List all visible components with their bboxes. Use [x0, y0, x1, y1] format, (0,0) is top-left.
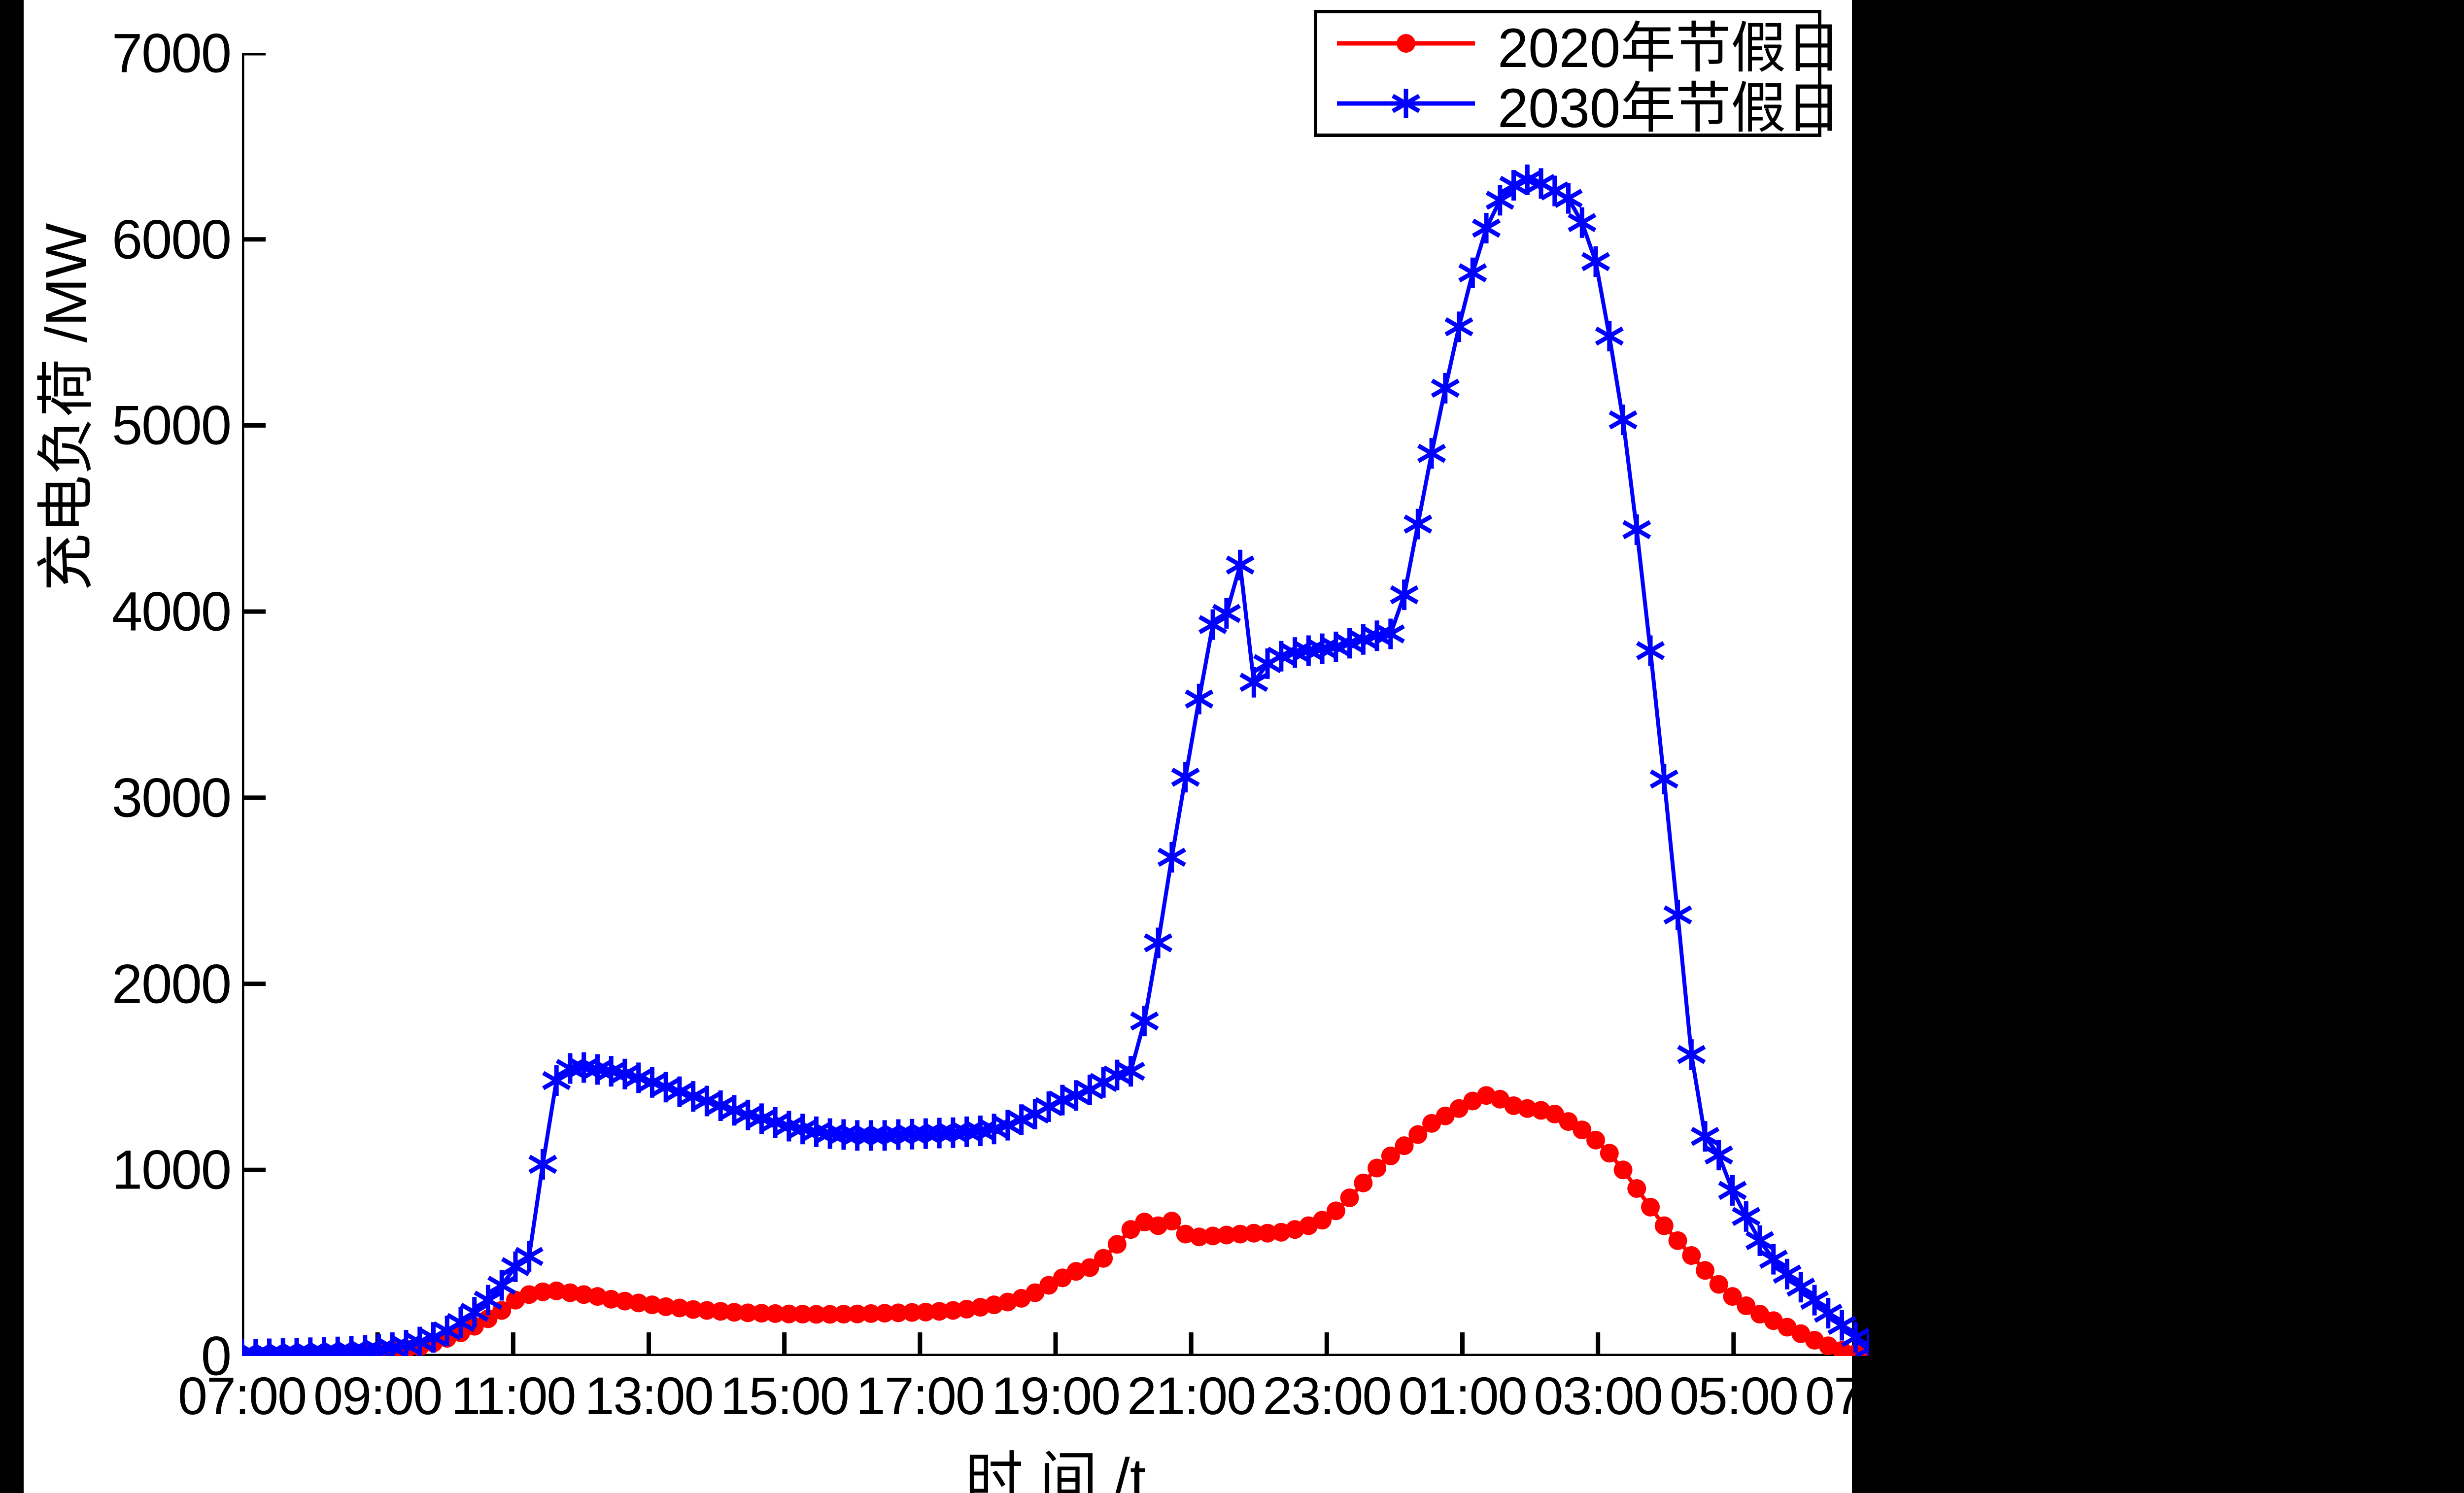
x-axis-title: 时 间 /t: [242, 1431, 1869, 1493]
data-point-marker: [1586, 1131, 1605, 1150]
y-axis-title: 充电负荷 /MW: [19, 0, 103, 591]
data-point-marker: [1600, 1144, 1619, 1162]
legend-item-2[interactable]: 2030年节假日: [1317, 73, 1818, 134]
x-axis-tick-label: 21:00: [1127, 1365, 1255, 1426]
data-point-marker: [1655, 1217, 1674, 1235]
x-axis-tick-label: 03:00: [1534, 1365, 1662, 1426]
data-point-marker: [1354, 1174, 1372, 1192]
figure-canvas: 70006000500040003000200010000 充电负荷 /MW 0…: [24, 0, 1852, 1493]
x-axis-tick-label: 15:00: [720, 1365, 849, 1426]
data-point-marker: [1641, 1198, 1660, 1217]
legend-item-label: 2030年节假日: [1480, 64, 1841, 143]
chart-legend: 2020年节假日2030年节假日: [1314, 10, 1821, 137]
data-point-marker: [1163, 1212, 1181, 1230]
x-axis-tick-label: 11:00: [451, 1365, 575, 1426]
data-point-marker: [1397, 34, 1415, 53]
x-axis-tick-label: 01:00: [1398, 1365, 1526, 1426]
x-axis-tick-label: 09:00: [313, 1365, 442, 1426]
data-point-marker: [1094, 1249, 1113, 1268]
x-axis-tick-label: 07:00: [1805, 1365, 1933, 1426]
x-axis-tick-label: 07:00: [178, 1365, 306, 1426]
x-axis-tick-label: 17:00: [856, 1365, 984, 1426]
y-axis-tick-label: 4000: [112, 580, 231, 644]
data-point-marker: [1340, 1188, 1359, 1207]
plot-area: [242, 53, 1869, 1356]
legend-circle-marker-icon: [1332, 29, 1480, 58]
y-axis-tick-label: 7000: [112, 22, 231, 85]
x-axis-tick-label: 19:00: [992, 1365, 1120, 1426]
data-point-marker: [1696, 1261, 1714, 1280]
y-axis-tick-label: 3000: [112, 766, 231, 829]
data-point-marker: [1682, 1246, 1701, 1265]
series-1: [242, 1086, 1869, 1356]
y-axis-tick-label: 1000: [112, 1138, 231, 1202]
y-axis-tick-label: 2000: [112, 952, 231, 1016]
figure-page: 70006000500040003000200010000 充电负荷 /MW 0…: [0, 0, 2464, 1493]
y-axis-tick-label: 6000: [112, 207, 231, 271]
data-point-marker: [1627, 1179, 1646, 1198]
data-point-marker: [1327, 1201, 1345, 1220]
x-axis-tick-label: 23:00: [1263, 1365, 1391, 1426]
chart-svg: [242, 53, 1869, 1356]
y-axis-tick-label: 5000: [112, 394, 231, 457]
data-point-marker: [1108, 1235, 1127, 1254]
legend-asterisk-marker-icon: [1332, 89, 1480, 118]
data-point-marker: [1669, 1231, 1687, 1250]
x-axis-tick-label: 13:00: [584, 1365, 713, 1426]
data-point-marker: [1614, 1160, 1633, 1179]
x-axis-tick-label: 05:00: [1670, 1365, 1798, 1426]
